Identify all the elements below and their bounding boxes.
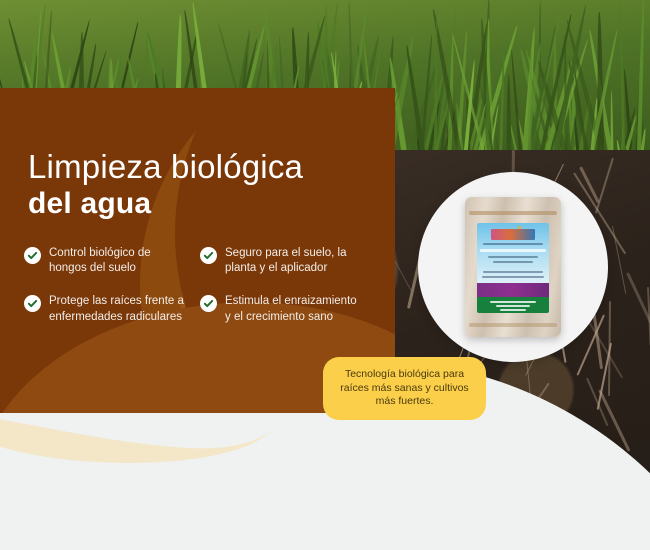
benefit-item: Protege las raíces frente a enfermedades… [24,294,184,324]
promo-banner: Limpieza biológica del agua Control biol… [0,0,650,550]
check-circle-icon [200,295,217,312]
label-text-line [500,309,526,311]
label-text-line [493,261,533,263]
benefits-list: Control biológico de hongos del suelo Se… [24,246,374,325]
label-purple-band [477,283,549,297]
product-label [477,223,549,313]
product-pouch [465,197,561,337]
benefit-item: Estimula el enraizamiento y el crecimien… [200,294,360,324]
benefit-text: Protege las raíces frente a enfermedades… [49,294,184,324]
cream-swoosh [0,408,270,466]
callout-box: Tecnología biológica para raíces más san… [323,357,486,420]
label-green-footer [477,297,549,313]
check-circle-icon [24,295,41,312]
label-highlight-band [480,249,546,252]
benefit-item: Control biológico de hongos del suelo [24,246,184,276]
benefit-text: Seguro para el suelo, la planta y el apl… [225,246,360,276]
label-text-line [488,256,538,258]
benefit-text: Estimula el enraizamiento y el crecimien… [225,294,360,324]
label-text-line [483,243,542,245]
headline-block: Limpieza biológica del agua [28,150,388,220]
product-circle [418,172,608,362]
label-text-line [483,271,542,273]
callout-text: Tecnología biológica para raíces más san… [333,368,476,409]
label-text-line [490,301,536,303]
check-circle-icon [24,247,41,264]
benefit-item: Seguro para el suelo, la planta y el apl… [200,246,360,276]
pouch-top-seal [469,211,557,215]
headline-line-1: Limpieza biológica [28,150,388,185]
benefit-text: Control biológico de hongos del suelo [49,246,184,276]
label-text-line [496,305,531,307]
label-text-line [482,276,544,278]
check-circle-icon [200,247,217,264]
headline-line-2: del agua [28,187,388,220]
brand-logo-icon [491,229,535,240]
pouch-bottom-seal [469,323,557,327]
